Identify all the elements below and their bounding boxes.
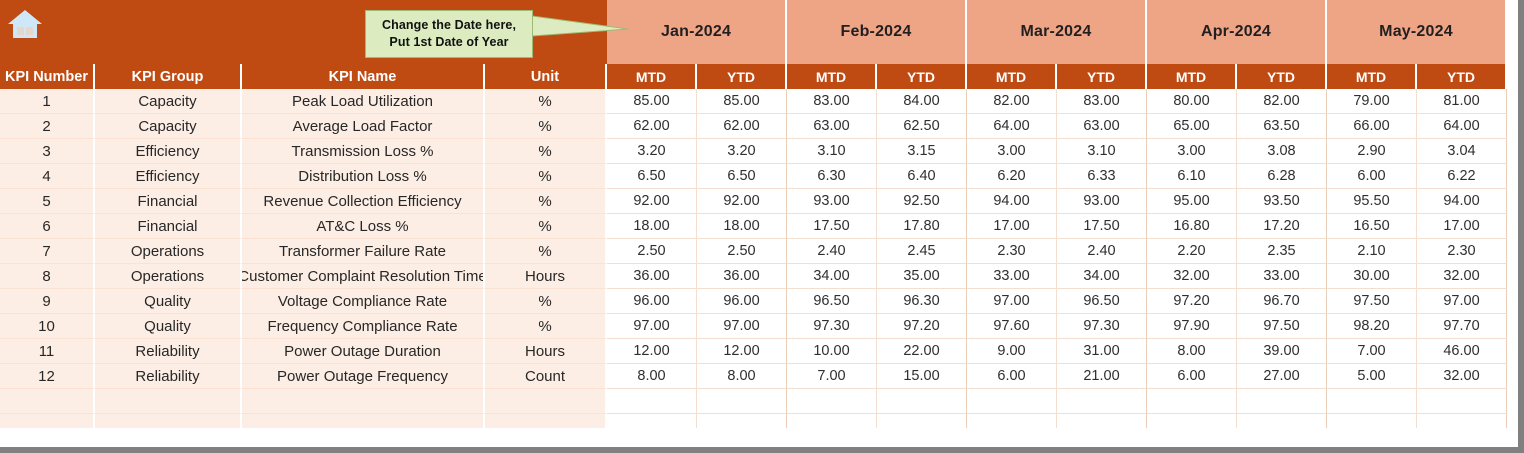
table-cell-value: 97.60 [967,314,1057,339]
table-cell-value: 96.30 [877,289,967,314]
table-cell-kpi-number: 11 [0,339,95,364]
table-cell-value: 97.30 [1057,314,1147,339]
table-cell-value: 97.70 [1417,314,1507,339]
table-cell-value: 12.00 [607,339,697,364]
table-cell-value: 96.00 [697,289,787,314]
table-cell-value: 83.00 [787,89,877,114]
table-cell-kpi-number: 8 [0,264,95,289]
table-cell-value: 97.50 [1327,289,1417,314]
subheader-mar-2024-mtd[interactable]: MTD [967,64,1057,89]
table-cell-empty [1057,389,1147,414]
table-cell-value: 18.00 [607,214,697,239]
table-cell-kpi-group: Reliability [95,364,242,389]
table-cell-value: 63.50 [1237,114,1327,139]
table-cell-value: 35.00 [877,264,967,289]
subheader-feb-2024-ytd[interactable]: YTD [877,64,967,89]
callout-change-date[interactable]: Change the Date here, Put 1st Date of Ye… [365,10,533,58]
column-header-kpi-name[interactable]: KPI Name [242,64,485,89]
table-cell-unit: % [485,314,607,339]
subheader-feb-2024-mtd[interactable]: MTD [787,64,877,89]
table-cell-kpi-name: Revenue Collection Efficiency [242,189,485,214]
table-cell-value: 27.00 [1237,364,1327,389]
column-header-unit[interactable]: Unit [485,64,607,89]
subheader-may-2024-ytd[interactable]: YTD [1417,64,1507,89]
table-cell-value: 36.00 [697,264,787,289]
table-cell-unit: % [485,139,607,164]
table-cell-value: 96.70 [1237,289,1327,314]
table-cell-kpi-number: 3 [0,139,95,164]
table-cell-value: 3.20 [697,139,787,164]
table-cell-value: 64.00 [1417,114,1507,139]
column-header-kpi-group[interactable]: KPI Group [95,64,242,89]
table-cell-unit: % [485,189,607,214]
table-cell-empty [1417,389,1507,414]
table-cell-kpi-number: 2 [0,114,95,139]
table-cell-value: 94.00 [967,189,1057,214]
table-cell-value: 96.50 [1057,289,1147,314]
table-cell-value: 7.00 [787,364,877,389]
table-cell-value: 3.00 [967,139,1057,164]
table-cell-kpi-name: Transmission Loss % [242,139,485,164]
table-cell-kpi-name: Power Outage Duration [242,339,485,364]
table-cell-kpi-name: Voltage Compliance Rate [242,289,485,314]
table-cell-value: 2.45 [877,239,967,264]
table-cell-value: 94.00 [1417,189,1507,214]
table-cell-value: 3.20 [607,139,697,164]
table-cell-value: 8.00 [1147,339,1237,364]
table-cell-value: 84.00 [877,89,967,114]
table-cell-value: 97.90 [1147,314,1237,339]
table-cell-value: 6.00 [967,364,1057,389]
table-cell-kpi-group: Capacity [95,89,242,114]
table-cell-kpi-name: Average Load Factor [242,114,485,139]
table-cell-empty [0,389,95,414]
table-cell-value: 63.00 [1057,114,1147,139]
table-cell-value: 16.50 [1327,214,1417,239]
table-cell-kpi-name: Distribution Loss % [242,164,485,189]
month-header-jan-2024[interactable]: Jan-2024 [607,0,787,64]
table-cell-value: 98.20 [1327,314,1417,339]
table-cell-value: 6.10 [1147,164,1237,189]
table-cell-value: 46.00 [1417,339,1507,364]
table-cell-value: 18.00 [697,214,787,239]
table-cell-unit: % [485,89,607,114]
table-cell-value: 93.50 [1237,189,1327,214]
table-cell-kpi-number: 1 [0,89,95,114]
table-cell-value: 79.00 [1327,89,1417,114]
table-cell-value: 85.00 [607,89,697,114]
table-cell-empty [697,389,787,414]
table-cell-value: 30.00 [1327,264,1417,289]
table-cell-value: 66.00 [1327,114,1417,139]
bottom-strip [0,428,1518,453]
table-cell-value: 3.15 [877,139,967,164]
table-cell-kpi-name: Transformer Failure Rate [242,239,485,264]
table-cell-kpi-group: Financial [95,214,242,239]
table-cell-empty [1327,389,1417,414]
table-cell-unit: Count [485,364,607,389]
table-cell-unit: % [485,114,607,139]
table-cell-value: 21.00 [1057,364,1147,389]
table-cell-unit: % [485,239,607,264]
table-cell-value: 3.00 [1147,139,1237,164]
table-cell-value: 2.30 [1417,239,1507,264]
table-cell-value: 62.50 [877,114,967,139]
table-cell-value: 97.20 [1147,289,1237,314]
table-cell-value: 2.50 [697,239,787,264]
table-cell-value: 33.00 [967,264,1057,289]
table-cell-value: 17.50 [1057,214,1147,239]
table-cell-value: 22.00 [877,339,967,364]
table-cell-value: 3.10 [1057,139,1147,164]
table-cell-value: 36.00 [607,264,697,289]
table-cell-value: 95.50 [1327,189,1417,214]
month-header-apr-2024[interactable]: Apr-2024 [1147,0,1327,64]
table-cell-kpi-group: Quality [95,314,242,339]
table-cell-empty [1147,389,1237,414]
table-cell-value: 17.00 [967,214,1057,239]
table-cell-kpi-name: Peak Load Utilization [242,89,485,114]
table-cell-value: 97.30 [787,314,877,339]
table-cell-empty [877,389,967,414]
table-cell-value: 62.00 [697,114,787,139]
table-cell-value: 8.00 [697,364,787,389]
table-cell-value: 97.00 [967,289,1057,314]
table-cell-value: 97.00 [697,314,787,339]
table-cell-value: 6.50 [607,164,697,189]
table-cell-empty [485,389,607,414]
table-cell-value: 82.00 [967,89,1057,114]
column-header-kpi-number[interactable]: KPI Number [0,64,95,89]
table-cell-value: 2.35 [1237,239,1327,264]
table-cell-unit: % [485,289,607,314]
table-cell-value: 92.50 [877,189,967,214]
table-cell-kpi-group: Efficiency [95,164,242,189]
month-header-mar-2024[interactable]: Mar-2024 [967,0,1147,64]
table-cell-empty [787,389,877,414]
subheader-apr-2024-mtd[interactable]: MTD [1147,64,1237,89]
callout-line-2: Put 1st Date of Year [389,34,508,51]
table-cell-kpi-number: 7 [0,239,95,264]
table-cell-value: 6.00 [1327,164,1417,189]
table-cell-value: 6.28 [1237,164,1327,189]
table-cell-value: 6.20 [967,164,1057,189]
table-cell-unit: Hours [485,264,607,289]
table-cell-kpi-name: AT&C Loss % [242,214,485,239]
table-cell-value: 97.00 [1417,289,1507,314]
table-cell-value: 92.00 [697,189,787,214]
table-cell-value: 2.50 [607,239,697,264]
table-cell-kpi-group: Capacity [95,114,242,139]
table-cell-value: 97.50 [1237,314,1327,339]
callout-line-1: Change the Date here, [382,17,516,34]
table-cell-value: 2.10 [1327,239,1417,264]
table-cell-value: 2.30 [967,239,1057,264]
table-cell-value: 39.00 [1237,339,1327,364]
table-cell-value: 34.00 [787,264,877,289]
table-cell-kpi-group: Reliability [95,339,242,364]
table-cell-value: 34.00 [1057,264,1147,289]
table-cell-value: 81.00 [1417,89,1507,114]
table-cell-kpi-name: Power Outage Frequency [242,364,485,389]
table-cell-value: 93.00 [787,189,877,214]
table-cell-value: 82.00 [1237,89,1327,114]
table-cell-value: 6.50 [697,164,787,189]
table-cell-value: 83.00 [1057,89,1147,114]
table-cell-value: 6.33 [1057,164,1147,189]
table-cell-value: 96.50 [787,289,877,314]
table-cell-kpi-group: Efficiency [95,139,242,164]
table-cell-empty [242,389,485,414]
table-cell-kpi-group: Operations [95,239,242,264]
table-cell-kpi-number: 4 [0,164,95,189]
table-cell-value: 3.08 [1237,139,1327,164]
subheader-jan-2024-ytd[interactable]: YTD [697,64,787,89]
table-cell-value: 2.40 [787,239,877,264]
table-cell-value: 97.20 [877,314,967,339]
table-cell-kpi-group: Financial [95,189,242,214]
table-cell-value: 17.50 [787,214,877,239]
table-cell-value: 63.00 [787,114,877,139]
table-cell-kpi-number: 10 [0,314,95,339]
table-cell-value: 6.30 [787,164,877,189]
table-cell-value: 64.00 [967,114,1057,139]
table-cell-value: 62.00 [607,114,697,139]
table-cell-value: 32.00 [1147,264,1237,289]
table-cell-value: 9.00 [967,339,1057,364]
table-cell-value: 96.00 [607,289,697,314]
table-cell-value: 32.00 [1417,364,1507,389]
table-cell-value: 2.90 [1327,139,1417,164]
table-cell-kpi-group: Quality [95,289,242,314]
table-cell-value: 2.40 [1057,239,1147,264]
table-cell-value: 92.00 [607,189,697,214]
table-cell-empty [95,389,242,414]
table-cell-empty [967,389,1057,414]
table-cell-kpi-group: Operations [95,264,242,289]
table-cell-value: 15.00 [877,364,967,389]
table-cell-value: 65.00 [1147,114,1237,139]
table-cell-value: 8.00 [607,364,697,389]
month-header-feb-2024[interactable]: Feb-2024 [787,0,967,64]
table-cell-value: 97.00 [607,314,697,339]
table-cell-value: 3.04 [1417,139,1507,164]
table-cell-value: 95.00 [1147,189,1237,214]
table-cell-kpi-number: 12 [0,364,95,389]
table-cell-value: 32.00 [1417,264,1507,289]
table-cell-unit: % [485,214,607,239]
table-cell-value: 16.80 [1147,214,1237,239]
home-icon[interactable] [7,8,43,40]
table-cell-value: 7.00 [1327,339,1417,364]
table-cell-value: 80.00 [1147,89,1237,114]
table-cell-empty [1237,389,1327,414]
table-cell-value: 6.40 [877,164,967,189]
table-cell-value: 93.00 [1057,189,1147,214]
table-cell-value: 3.10 [787,139,877,164]
subheader-mar-2024-ytd[interactable]: YTD [1057,64,1147,89]
table-cell-kpi-number: 9 [0,289,95,314]
subheader-may-2024-mtd[interactable]: MTD [1327,64,1417,89]
table-cell-value: 17.00 [1417,214,1507,239]
table-cell-kpi-number: 6 [0,214,95,239]
table-cell-value: 12.00 [697,339,787,364]
subheader-jan-2024-mtd[interactable]: MTD [607,64,697,89]
month-header-may-2024[interactable]: May-2024 [1327,0,1507,64]
table-cell-kpi-number: 5 [0,189,95,214]
table-cell-kpi-name: Frequency Compliance Rate [242,314,485,339]
table-cell-value: 31.00 [1057,339,1147,364]
table-cell-value: 6.22 [1417,164,1507,189]
table-cell-value: 85.00 [697,89,787,114]
table-cell-value: 33.00 [1237,264,1327,289]
table-cell-value: 6.00 [1147,364,1237,389]
table-cell-value: 5.00 [1327,364,1417,389]
table-cell-value: 2.20 [1147,239,1237,264]
table-cell-unit: % [485,164,607,189]
kpi-dashboard-table: Jan-2024Feb-2024Mar-2024Apr-2024May-2024… [0,0,1524,453]
table-cell-unit: Hours [485,339,607,364]
table-cell-empty [607,389,697,414]
table-cell-value: 10.00 [787,339,877,364]
subheader-apr-2024-ytd[interactable]: YTD [1237,64,1327,89]
table-cell-kpi-name: Customer Complaint Resolution Time [242,264,485,289]
table-cell-value: 17.20 [1237,214,1327,239]
table-cell-value: 17.80 [877,214,967,239]
